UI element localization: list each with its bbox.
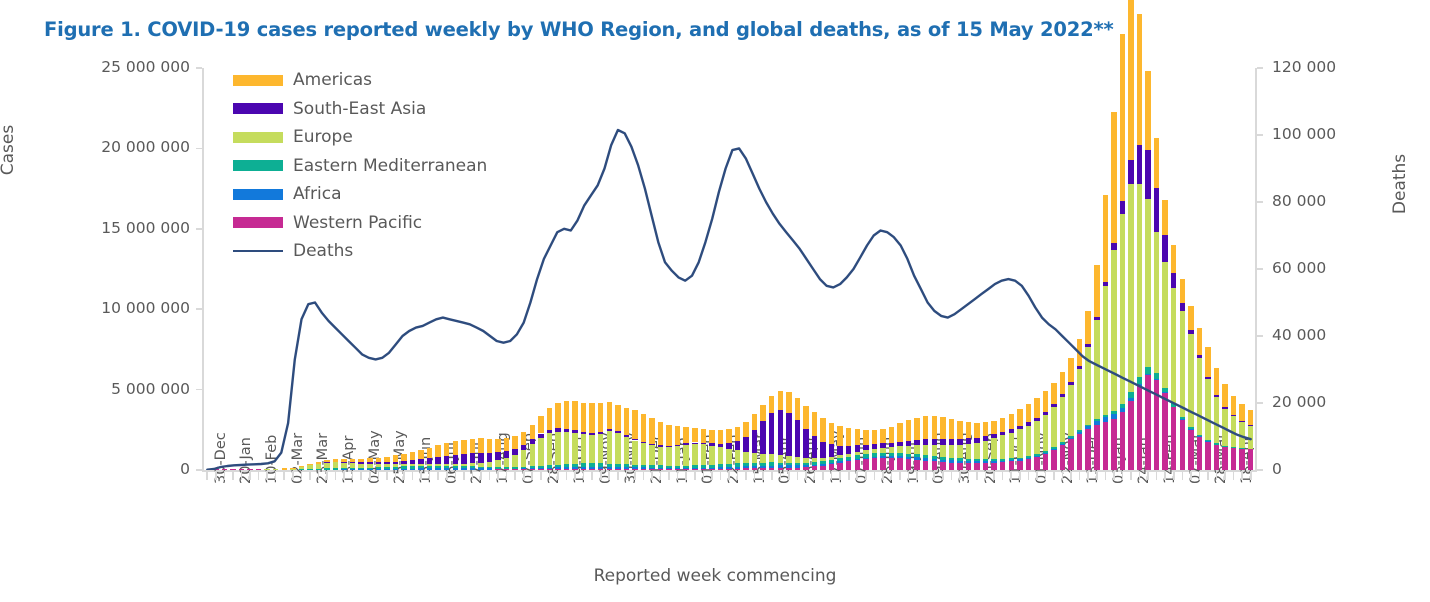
- x-tick-mark: [634, 471, 636, 480]
- legend-item-eastern-mediterranean[interactable]: Eastern Mediterranean: [233, 152, 487, 181]
- bar-segment-africa: [812, 465, 817, 467]
- legend-item-deaths[interactable]: Deaths: [233, 237, 487, 266]
- bar-segment-eastern-mediterranean: [470, 466, 475, 468]
- bar-column[interactable]: [1214, 68, 1219, 470]
- bar-segment-eastern-mediterranean: [478, 467, 483, 469]
- bar-column[interactable]: [538, 68, 543, 470]
- bar-segment-south-east-asia: [1077, 366, 1082, 369]
- x-tick-mark: [258, 471, 260, 480]
- bar-column[interactable]: [641, 68, 646, 470]
- x-tick-mark: [480, 471, 482, 480]
- x-tick-mark: [352, 471, 354, 480]
- bar-column[interactable]: [786, 68, 791, 470]
- bar-segment-eastern-mediterranean: [837, 458, 842, 461]
- x-tick-mark: [455, 471, 457, 480]
- bar-column[interactable]: [1188, 68, 1193, 470]
- bar-segment-eastern-mediterranean: [504, 467, 509, 469]
- bar-segment-south-east-asia: [1060, 394, 1065, 397]
- bar-segment-eastern-mediterranean: [752, 463, 757, 466]
- bar-segment-western-pacific: [1205, 442, 1210, 470]
- bar-segment-eastern-mediterranean: [949, 458, 954, 460]
- bar-segment-africa: [966, 461, 971, 463]
- bar-segment-south-east-asia: [1171, 273, 1176, 287]
- bar-segment-africa: [1137, 384, 1142, 386]
- bar-column[interactable]: [649, 68, 654, 470]
- bar-segment-africa: [598, 467, 603, 469]
- bar-segment-western-pacific: [769, 468, 774, 470]
- bar-column[interactable]: [863, 68, 868, 470]
- bar-segment-africa: [1068, 438, 1073, 440]
- x-tick-mark: [711, 471, 713, 480]
- bar-column[interactable]: [512, 68, 517, 470]
- y-right-tick-label: 100 000: [1272, 125, 1392, 143]
- y-right-tick-mark: [1257, 67, 1263, 69]
- bar-column[interactable]: [683, 68, 688, 470]
- bar-column[interactable]: [718, 68, 723, 470]
- bar-segment-western-pacific: [812, 466, 817, 470]
- bar-column[interactable]: [1162, 68, 1167, 470]
- bar-segment-africa: [974, 461, 979, 463]
- bar-column[interactable]: [495, 68, 500, 470]
- bar-segment-americas: [530, 425, 535, 439]
- bar-column[interactable]: [932, 68, 937, 470]
- x-tick-mark: [1164, 471, 1166, 480]
- bar-segment-africa: [1128, 398, 1133, 401]
- bar-column[interactable]: [991, 68, 996, 470]
- bar-segment-western-pacific: [889, 458, 894, 470]
- bar-column[interactable]: [795, 68, 800, 470]
- bar-column[interactable]: [1068, 68, 1073, 470]
- legend-label: Africa: [293, 184, 342, 204]
- bar-column[interactable]: [1009, 68, 1014, 470]
- bar-column[interactable]: [1222, 68, 1227, 470]
- bar-segment-eastern-mediterranean: [1205, 440, 1210, 441]
- bar-segment-americas: [641, 414, 646, 441]
- bar-segment-americas: [675, 426, 680, 445]
- bar-segment-americas: [427, 448, 432, 458]
- bar-segment-europe: [487, 462, 492, 467]
- bar-segment-americas: [376, 458, 381, 463]
- bar-segment-eastern-mediterranean: [555, 465, 560, 468]
- x-tick-mark: [1147, 471, 1149, 480]
- x-tick-mark: [215, 471, 217, 480]
- bar-column[interactable]: [1026, 68, 1031, 470]
- bar-segment-south-east-asia: [692, 443, 697, 445]
- bar-segment-americas: [299, 466, 304, 467]
- legend-item-western-pacific[interactable]: Western Pacific: [233, 209, 487, 238]
- bar-segment-eastern-mediterranean: [324, 468, 329, 469]
- bar-segment-europe: [923, 445, 928, 455]
- bar-segment-eastern-mediterranean: [1077, 430, 1082, 432]
- bar-segment-africa: [872, 457, 877, 458]
- bar-segment-south-east-asia: [581, 432, 586, 434]
- bar-segment-americas: [692, 428, 697, 442]
- bar-segment-americas: [1197, 328, 1202, 355]
- bar-segment-south-east-asia: [1043, 412, 1048, 415]
- bar-column[interactable]: [1120, 68, 1125, 470]
- bar-segment-south-east-asia: [726, 443, 731, 449]
- bar-segment-americas: [435, 445, 440, 457]
- bar-column[interactable]: [726, 68, 731, 470]
- bar-column[interactable]: [1171, 68, 1176, 470]
- x-tick-mark: [703, 471, 705, 480]
- bar-column[interactable]: [957, 68, 962, 470]
- bar-segment-south-east-asia: [906, 441, 911, 446]
- bar-segment-americas: [495, 439, 500, 453]
- bar-column[interactable]: [1154, 68, 1159, 470]
- bar-column[interactable]: [213, 68, 218, 470]
- bar-column[interactable]: [1180, 68, 1185, 470]
- bar-segment-americas: [726, 429, 731, 443]
- bar-segment-western-pacific: [829, 464, 834, 470]
- bar-segment-americas: [709, 430, 714, 443]
- bar-column[interactable]: [624, 68, 629, 470]
- bar-column[interactable]: [521, 68, 526, 470]
- x-tick-mark: [728, 471, 730, 480]
- bar-segment-europe: [444, 464, 449, 466]
- bar-segment-eastern-mediterranean: [769, 462, 774, 465]
- bar-column[interactable]: [1000, 68, 1005, 470]
- bar-column[interactable]: [692, 68, 697, 470]
- bar-column[interactable]: [1094, 68, 1099, 470]
- bar-column[interactable]: [1128, 68, 1133, 470]
- bar-segment-americas: [752, 414, 757, 430]
- bar-segment-europe: [624, 437, 629, 464]
- bar-column[interactable]: [983, 68, 988, 470]
- x-tick-mark: [1139, 471, 1141, 480]
- bar-segment-africa: [829, 463, 834, 465]
- bar-segment-western-pacific: [778, 468, 783, 470]
- bar-segment-western-pacific: [837, 463, 842, 470]
- bar-segment-western-pacific: [247, 469, 252, 470]
- x-tick-mark: [1113, 471, 1115, 480]
- bar-column[interactable]: [906, 68, 911, 470]
- x-tick-mark: [266, 471, 268, 480]
- bar-column[interactable]: [607, 68, 612, 470]
- x-tick-mark: [463, 471, 465, 480]
- bar-segment-western-pacific: [760, 468, 765, 470]
- bar-column[interactable]: [949, 68, 954, 470]
- bar-column[interactable]: [769, 68, 774, 470]
- bar-segment-europe: [453, 464, 458, 466]
- bar-segment-africa: [1043, 453, 1048, 454]
- bar-segment-americas: [572, 401, 577, 430]
- bar-segment-americas: [410, 452, 415, 460]
- bar-column[interactable]: [572, 68, 577, 470]
- bar-column[interactable]: [1051, 68, 1056, 470]
- x-tick-mark: [540, 471, 542, 480]
- bar-segment-americas: [358, 459, 363, 463]
- bar-segment-south-east-asia: [1145, 150, 1150, 200]
- bar-column[interactable]: [1034, 68, 1039, 470]
- x-tick-mark: [908, 471, 910, 480]
- bar-column[interactable]: [829, 68, 834, 470]
- bar-segment-eastern-mediterranean: [341, 468, 346, 469]
- bar-segment-americas: [1214, 368, 1219, 395]
- bar-segment-south-east-asia: [769, 413, 774, 454]
- bar-segment-europe: [435, 464, 440, 466]
- bar-column[interactable]: [735, 68, 740, 470]
- bar-column[interactable]: [812, 68, 817, 470]
- x-tick-mark: [762, 471, 764, 480]
- bar-segment-eastern-mediterranean: [889, 453, 894, 457]
- bar-segment-americas: [1248, 410, 1253, 425]
- bar-column[interactable]: [555, 68, 560, 470]
- x-tick-mark: [1182, 471, 1184, 480]
- bar-segment-europe: [1145, 199, 1150, 366]
- x-tick-mark: [523, 471, 525, 480]
- bar-segment-eastern-mediterranean: [923, 455, 928, 458]
- bar-segment-africa: [487, 468, 492, 469]
- bar-segment-africa: [427, 468, 432, 469]
- bar-column[interactable]: [855, 68, 860, 470]
- bar-segment-south-east-asia: [1120, 201, 1125, 214]
- bar-column[interactable]: [1043, 68, 1048, 470]
- bar-segment-eastern-mediterranean: [1060, 442, 1065, 444]
- bar-segment-europe: [1103, 286, 1108, 415]
- bar-column[interactable]: [837, 68, 842, 470]
- bar-segment-europe: [418, 464, 423, 466]
- bar-column[interactable]: [564, 68, 569, 470]
- bar-segment-western-pacific: [1094, 425, 1099, 470]
- bar-segment-eastern-mediterranean: [1128, 392, 1133, 398]
- bar-segment-western-pacific: [581, 469, 586, 470]
- bar-column[interactable]: [1231, 68, 1236, 470]
- bar-column[interactable]: [760, 68, 765, 470]
- bar-column[interactable]: [1145, 68, 1150, 470]
- bar-column[interactable]: [1239, 68, 1244, 470]
- bar-column[interactable]: [547, 68, 552, 470]
- bar-segment-europe: [607, 431, 612, 463]
- bar-segment-eastern-mediterranean: [1000, 459, 1005, 461]
- bar-segment-americas: [1034, 398, 1039, 418]
- bar-column[interactable]: [632, 68, 637, 470]
- bar-segment-americas: [1137, 14, 1142, 146]
- x-tick-mark: [788, 471, 790, 480]
- x-tick-mark: [882, 471, 884, 480]
- bar-column[interactable]: [923, 68, 928, 470]
- bar-segment-south-east-asia: [401, 461, 406, 465]
- bar-segment-americas: [649, 418, 654, 443]
- bar-segment-europe: [1026, 426, 1031, 457]
- bar-segment-south-east-asia: [530, 439, 535, 444]
- bar-column[interactable]: [666, 68, 671, 470]
- bar-column[interactable]: [1137, 68, 1142, 470]
- bar-column[interactable]: [701, 68, 706, 470]
- bar-column[interactable]: [880, 68, 885, 470]
- bar-segment-americas: [581, 403, 586, 432]
- bar-segment-americas: [906, 420, 911, 441]
- bar-segment-south-east-asia: [820, 442, 825, 458]
- y-left-tick-label: 15 000 000: [30, 219, 190, 237]
- y-left-tick-label: 5 000 000: [30, 380, 190, 398]
- bar-segment-americas: [367, 458, 372, 462]
- bar-segment-south-east-asia: [1197, 355, 1202, 358]
- bar-segment-south-east-asia: [863, 445, 868, 450]
- bar-segment-western-pacific: [709, 469, 714, 470]
- bar-column[interactable]: [1017, 68, 1022, 470]
- bar-segment-eastern-mediterranean: [863, 454, 868, 458]
- bar-column[interactable]: [504, 68, 509, 470]
- bar-segment-western-pacific: [803, 467, 808, 470]
- bar-column[interactable]: [1205, 68, 1210, 470]
- bar-column[interactable]: [1197, 68, 1202, 470]
- bar-column[interactable]: [675, 68, 680, 470]
- x-tick-mark: [531, 471, 533, 480]
- bar-segment-western-pacific: [1239, 449, 1244, 470]
- x-tick-mark: [933, 471, 935, 480]
- legend-item-europe[interactable]: Europe: [233, 123, 487, 152]
- bar-segment-africa: [435, 468, 440, 469]
- bar-segment-western-pacific: [752, 468, 757, 470]
- bar-column[interactable]: [743, 68, 748, 470]
- bar-segment-south-east-asia: [923, 439, 928, 445]
- bar-segment-americas: [341, 459, 346, 462]
- bar-column[interactable]: [752, 68, 757, 470]
- x-tick-mark: [720, 471, 722, 480]
- bar-segment-americas: [1051, 383, 1056, 404]
- bar-column[interactable]: [530, 68, 535, 470]
- x-tick-mark: [206, 471, 208, 480]
- bar-segment-africa: [983, 461, 988, 463]
- bar-segment-americas: [1222, 384, 1227, 407]
- bar-segment-western-pacific: [239, 469, 244, 470]
- bar-column[interactable]: [1103, 68, 1108, 470]
- bar-segment-south-east-asia: [743, 437, 748, 451]
- legend-item-americas[interactable]: Americas: [233, 66, 487, 95]
- bar-segment-south-east-asia: [478, 453, 483, 463]
- bar-segment-americas: [333, 459, 338, 462]
- bar-segment-eastern-mediterranean: [846, 457, 851, 460]
- y-right-tick-mark: [1257, 335, 1263, 337]
- bar-column[interactable]: [589, 68, 594, 470]
- bar-segment-western-pacific: [983, 463, 988, 470]
- bar-segment-europe: [1197, 358, 1202, 435]
- bar-column[interactable]: [205, 68, 210, 470]
- bar-segment-eastern-mediterranean: [1231, 447, 1236, 448]
- bar-segment-south-east-asia: [384, 462, 389, 464]
- bar-column[interactable]: [974, 68, 979, 470]
- bar-segment-eastern-mediterranean: [718, 464, 723, 467]
- bar-column[interactable]: [1111, 68, 1116, 470]
- bar-column[interactable]: [889, 68, 894, 470]
- bar-segment-western-pacific: [1162, 393, 1167, 470]
- legend-item-south-east-asia[interactable]: South-East Asia: [233, 95, 487, 124]
- bar-column[interactable]: [778, 68, 783, 470]
- bar-column[interactable]: [803, 68, 808, 470]
- bar-column[interactable]: [914, 68, 919, 470]
- bar-segment-eastern-mediterranean: [367, 468, 372, 470]
- bar-segment-south-east-asia: [974, 438, 979, 443]
- bar-column[interactable]: [581, 68, 586, 470]
- bar-segment-eastern-mediterranean: [461, 466, 466, 468]
- bar-segment-europe: [820, 458, 825, 462]
- bar-segment-europe: [880, 448, 885, 453]
- bar-column[interactable]: [820, 68, 825, 470]
- bar-segment-south-east-asia: [1026, 422, 1031, 425]
- bar-segment-americas: [880, 429, 885, 443]
- bar-segment-africa: [923, 458, 928, 461]
- bar-segment-americas: [957, 421, 962, 439]
- bar-segment-south-east-asia: [435, 457, 440, 464]
- bar-segment-western-pacific: [607, 469, 612, 470]
- bar-column[interactable]: [222, 68, 227, 470]
- bar-column[interactable]: [1077, 68, 1082, 470]
- bar-segment-europe: [316, 464, 321, 469]
- bar-segment-europe: [957, 445, 962, 459]
- bar-column[interactable]: [872, 68, 877, 470]
- bar-column[interactable]: [1060, 68, 1065, 470]
- bar-segment-europe: [358, 464, 363, 468]
- bar-column[interactable]: [598, 68, 603, 470]
- bar-segment-eastern-mediterranean: [1043, 451, 1048, 453]
- x-tick-mark: [805, 471, 807, 480]
- y-axis-left-title: Cases: [0, 90, 18, 210]
- bar-segment-western-pacific: [222, 469, 227, 470]
- bar-segment-western-pacific: [1128, 401, 1133, 470]
- bar-column[interactable]: [1248, 68, 1253, 470]
- bar-segment-americas: [872, 430, 877, 444]
- bar-segment-europe: [1068, 385, 1073, 436]
- bar-segment-western-pacific: [555, 469, 560, 470]
- bar-column[interactable]: [615, 68, 620, 470]
- bar-segment-eastern-mediterranean: [1197, 435, 1202, 437]
- legend-color-swatch: [233, 189, 283, 200]
- bar-column[interactable]: [940, 68, 945, 470]
- bar-segment-eastern-mediterranean: [1188, 427, 1193, 429]
- bar-segment-south-east-asia: [803, 429, 808, 458]
- bar-segment-eastern-mediterranean: [1171, 403, 1176, 406]
- bar-segment-western-pacific: [735, 469, 740, 470]
- bar-column[interactable]: [897, 68, 902, 470]
- bar-segment-western-pacific: [855, 460, 860, 470]
- bar-column[interactable]: [658, 68, 663, 470]
- bar-segment-africa: [735, 467, 740, 469]
- bar-column[interactable]: [487, 68, 492, 470]
- x-tick-mark: [326, 471, 328, 480]
- bar-segment-western-pacific: [743, 468, 748, 470]
- bar-segment-eastern-mediterranean: [1094, 419, 1099, 421]
- x-tick-mark: [608, 471, 610, 480]
- bar-segment-americas: [624, 408, 629, 435]
- bar-segment-eastern-mediterranean: [598, 463, 603, 466]
- bar-column[interactable]: [1085, 68, 1090, 470]
- bar-segment-europe: [743, 452, 748, 463]
- x-tick-mark: [899, 471, 901, 480]
- bar-segment-south-east-asia: [376, 462, 381, 464]
- bar-segment-eastern-mediterranean: [632, 465, 637, 468]
- bar-segment-americas: [401, 454, 406, 461]
- bar-segment-south-east-asia: [855, 445, 860, 451]
- bar-segment-europe: [470, 463, 475, 466]
- bar-segment-south-east-asia: [1051, 404, 1056, 407]
- bar-segment-europe: [324, 463, 329, 469]
- bar-segment-americas: [1094, 265, 1099, 316]
- bar-segment-eastern-mediterranean: [1222, 446, 1227, 447]
- legend-item-africa[interactable]: Africa: [233, 180, 487, 209]
- bar-column[interactable]: [846, 68, 851, 470]
- bar-segment-europe: [683, 445, 688, 466]
- bar-segment-western-pacific: [949, 463, 954, 470]
- x-tick-mark: [420, 471, 422, 480]
- bar-segment-south-east-asia: [1000, 432, 1005, 436]
- bar-segment-eastern-mediterranean: [1103, 415, 1108, 417]
- bar-column[interactable]: [966, 68, 971, 470]
- bar-segment-europe: [932, 445, 937, 456]
- bar-column[interactable]: [709, 68, 714, 470]
- x-tick-mark: [848, 471, 850, 480]
- bar-segment-eastern-mediterranean: [675, 466, 680, 468]
